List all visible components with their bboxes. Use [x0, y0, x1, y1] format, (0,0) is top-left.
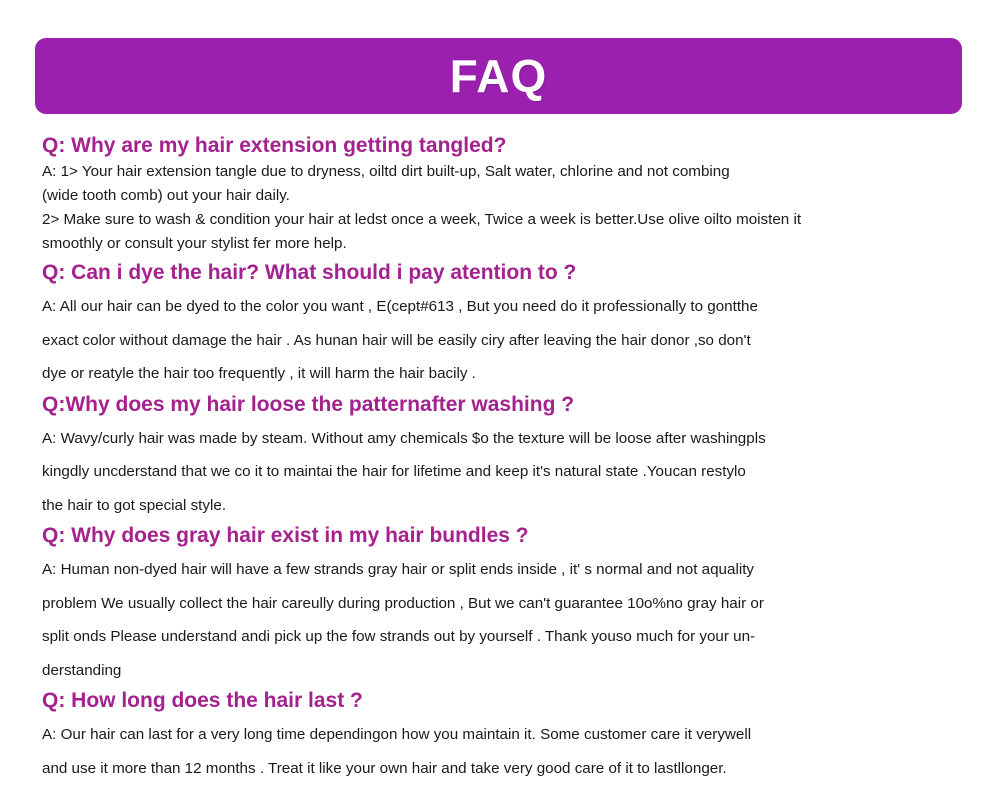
faq-answer-line: kingdly uncderstand that we co it to mai…: [42, 455, 972, 489]
faq-answer-line: the hair to got special style.: [42, 489, 972, 523]
faq-answer: A: All our hair can be dyed to the color…: [42, 290, 972, 391]
faq-page: FAQ Q: Why are my hair extension getting…: [0, 0, 1000, 812]
faq-answer-line: and use it more than 12 months . Treat i…: [42, 752, 972, 786]
faq-answer: A: Wavy/curly hair was made by steam. Wi…: [42, 422, 972, 523]
faq-question: Q: Can i dye the hair? What should i pay…: [42, 259, 972, 286]
faq-answer-line: problem We usually collect the hair care…: [42, 587, 972, 621]
faq-answer-line: A: 1> Your hair extension tangle due to …: [42, 160, 972, 184]
faq-question: Q: Why are my hair extension getting tan…: [42, 132, 972, 159]
faq-answer-line: (wide tooth comb) out your hair daily.: [42, 184, 972, 208]
faq-list: Q: Why are my hair extension getting tan…: [42, 132, 972, 785]
faq-item: Q: Why are my hair extension getting tan…: [42, 132, 972, 256]
faq-answer: A: Human non-dyed hair will have a few s…: [42, 553, 972, 687]
faq-item: Q: Why does gray hair exist in my hair b…: [42, 522, 972, 687]
faq-question: Q: Why does gray hair exist in my hair b…: [42, 522, 972, 549]
faq-answer-line: A: Wavy/curly hair was made by steam. Wi…: [42, 422, 972, 456]
faq-answer-line: exact color without damage the hair . As…: [42, 324, 972, 358]
faq-question: Q:Why does my hair loose the patternafte…: [42, 391, 972, 418]
faq-answer-line: split onds Please understand andi pick u…: [42, 620, 972, 654]
faq-answer: A: 1> Your hair extension tangle due to …: [42, 160, 972, 256]
faq-answer-line: dye or reatyle the hair too frequently ,…: [42, 357, 972, 391]
faq-item: Q: Can i dye the hair? What should i pay…: [42, 259, 972, 391]
faq-answer-line: A: Our hair can last for a very long tim…: [42, 718, 972, 752]
faq-answer-line: smoothly or consult your stylist fer mor…: [42, 232, 972, 256]
faq-question: Q: How long does the hair last ?: [42, 687, 972, 714]
faq-answer-line: A: Human non-dyed hair will have a few s…: [42, 553, 972, 587]
faq-banner-title: FAQ: [450, 53, 548, 99]
faq-answer-line: derstanding: [42, 654, 972, 688]
faq-item: Q: How long does the hair last ? A: Our …: [42, 687, 972, 785]
faq-item: Q:Why does my hair loose the patternafte…: [42, 391, 972, 523]
faq-answer-line: 2> Make sure to wash & condition your ha…: [42, 208, 972, 232]
faq-answer-line: A: All our hair can be dyed to the color…: [42, 290, 972, 324]
faq-answer: A: Our hair can last for a very long tim…: [42, 718, 972, 785]
faq-banner: FAQ: [35, 38, 962, 114]
